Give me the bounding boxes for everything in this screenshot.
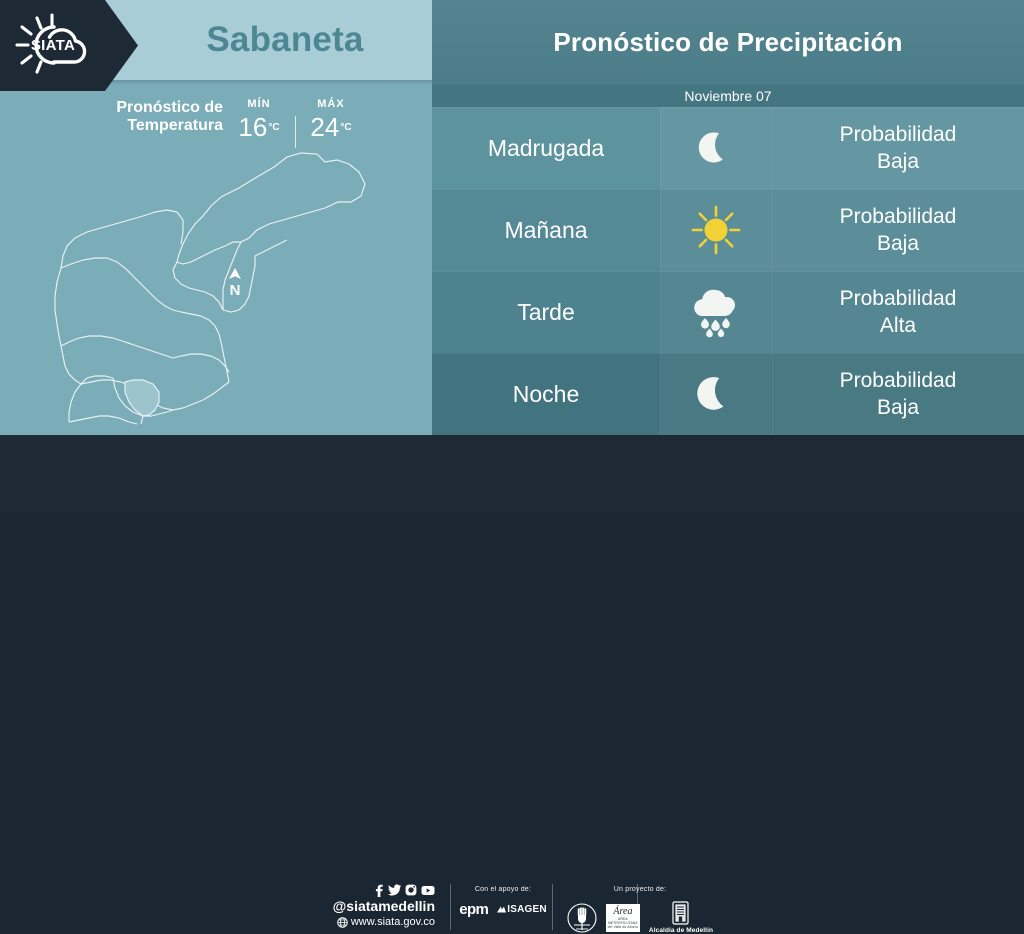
table-row: Tarde: [432, 271, 1024, 353]
temperature-values: MÍN 16°C MÁX 24°C: [231, 96, 361, 152]
temperature-max-label: MÁX: [303, 96, 359, 112]
website-url[interactable]: www.siata.gov.co: [351, 915, 435, 929]
temperature-max-value: 24: [310, 112, 339, 142]
forecast-date: Noviembre 07: [432, 85, 1024, 107]
probability-value: Probabilidad Baja: [772, 189, 1024, 271]
website-row[interactable]: www.siata.gov.co: [305, 915, 435, 929]
period-label: Tarde: [432, 271, 660, 353]
temperature-max-unit: °C: [340, 122, 351, 133]
probability-line2: Baja: [840, 230, 957, 257]
precipitation-header: Pronóstico de Precipitación: [432, 0, 1024, 85]
footer-divider-2: [552, 884, 553, 930]
sun-icon: [660, 189, 772, 271]
left-panel: SIATA Sabaneta Pronóstico de Temperatura…: [0, 0, 432, 435]
svg-text:SIATA: SIATA: [31, 37, 75, 54]
rain-cloud-icon: [660, 271, 772, 353]
probability-line1: Probabilidad: [840, 367, 957, 394]
temperature-title-line2: Temperatura: [75, 117, 223, 135]
temperature-min-label: MÍN: [231, 96, 287, 112]
alcaldia-label: Alcaldía de Medellín: [649, 927, 713, 934]
highlighted-municipality: [125, 380, 159, 416]
project-logos: Área AREA METROPOLITANA del Valle de Abu…: [560, 901, 720, 934]
temperature-min-unit: °C: [268, 122, 279, 133]
social-handle[interactable]: @siatamedellin: [305, 898, 435, 915]
probability-line1: Probabilidad: [840, 285, 957, 312]
municipality-map: [25, 150, 415, 425]
column-divider-2: [772, 353, 773, 435]
column-divider-1: [660, 107, 661, 189]
support-caption: Con el apoyo de:: [462, 885, 544, 894]
probability-line2: Baja: [840, 148, 957, 175]
epm-logo: epm: [459, 901, 488, 918]
forecast-rows: Madrugada Probabilidad Baja: [432, 107, 1024, 435]
probability-line1: Probabilidad: [840, 203, 957, 230]
period-label: Noche: [432, 353, 660, 435]
support-block: Con el apoyo de: epm ISAGEN: [462, 885, 544, 918]
area-metropolitana-logo: Área AREA METROPOLITANA del Valle de Abu…: [606, 904, 640, 932]
facebook-icon[interactable]: [373, 884, 384, 897]
globe-icon: [337, 917, 348, 928]
temperature-forecast: Pronóstico de Temperatura MÍN 16°C MÁX 2…: [55, 96, 355, 154]
table-row: Noche Probabilidad Baja: [432, 353, 1024, 435]
footer-divider-3: [637, 884, 638, 930]
youtube-icon[interactable]: [421, 885, 435, 896]
column-divider-1: [660, 271, 661, 353]
instagram-icon[interactable]: [405, 884, 417, 896]
probability-value: Probabilidad Baja: [772, 107, 1024, 189]
footer-divider-1: [450, 884, 451, 930]
crescent-moon-icon: [660, 107, 772, 189]
table-row: Mañana: [432, 189, 1024, 271]
period-label: Madrugada: [432, 107, 660, 189]
twitter-icon[interactable]: [388, 884, 401, 896]
column-divider-2: [772, 271, 773, 353]
probability-line2: Baja: [840, 394, 957, 421]
footer: @siatamedellin www.siata.gov.co Con el a…: [0, 435, 1024, 512]
north-label: N: [222, 283, 248, 298]
temperature-max: MÁX 24°C: [303, 96, 359, 142]
row-divider: [432, 189, 1024, 190]
row-divider: [432, 271, 1024, 272]
column-divider-2: [772, 107, 773, 189]
column-divider-1: [660, 189, 661, 271]
row-divider: [432, 107, 1024, 108]
city-title: Sabaneta: [138, 0, 432, 80]
probability-line1: Probabilidad: [840, 121, 957, 148]
temperature-divider: [295, 116, 296, 148]
precipitation-panel: Pronóstico de Precipitación Noviembre 07…: [432, 0, 1024, 435]
column-divider-1: [660, 353, 661, 435]
isagen-logo: ISAGEN: [497, 904, 547, 915]
north-indicator: N: [222, 268, 248, 304]
temperature-title-line1: Pronóstico de: [75, 99, 223, 117]
project-caption: Un proyecto de:: [560, 885, 720, 894]
probability-value: Probabilidad Alta: [772, 271, 1024, 353]
temperature-title: Pronóstico de Temperatura: [75, 99, 223, 135]
column-divider-2: [772, 189, 773, 271]
siata-seal-icon: [567, 903, 597, 933]
weather-forecast-infographic: SIATA Sabaneta Pronóstico de Temperatura…: [0, 0, 1024, 512]
period-label: Mañana: [432, 189, 660, 271]
social-icons: [305, 883, 435, 897]
table-row: Madrugada Probabilidad Baja: [432, 107, 1024, 189]
sun-cloud-icon: SIATA: [10, 10, 98, 80]
temperature-min-value: 16: [238, 112, 267, 142]
social-block: @siatamedellin www.siata.gov.co: [305, 883, 435, 933]
alcaldia-emblem-icon: [672, 901, 689, 925]
support-logos: epm ISAGEN: [462, 901, 544, 918]
alcaldia-medellin-logo: Alcaldía de Medellín: [649, 901, 713, 934]
precipitation-title: Pronóstico de Precipitación: [553, 27, 902, 58]
temperature-min: MÍN 16°C: [231, 96, 287, 142]
probability-line2: Alta: [840, 312, 957, 339]
project-block: Un proyecto de: Área AREA METROPOLITANA …: [560, 885, 720, 934]
crescent-moon-icon: [660, 353, 772, 435]
row-divider: [432, 353, 1024, 354]
north-arrow-icon: [228, 268, 242, 283]
isagen-mark-icon: [497, 905, 506, 914]
probability-value: Probabilidad Baja: [772, 353, 1024, 435]
